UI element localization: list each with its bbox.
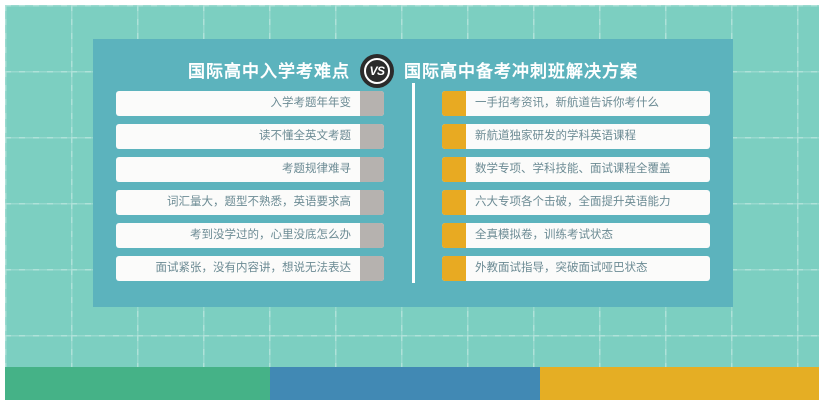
right-column-title: 国际高中备考冲刺班解决方案 <box>404 63 638 80</box>
list-item: 外教面试指导，突破面试哑巴状态 <box>442 256 710 281</box>
orange-marker-block <box>442 256 466 281</box>
list-item: 全真模拟卷，训练考试状态 <box>442 223 710 248</box>
list-item: 考题规律难寻 <box>116 157 384 182</box>
list-item: 新航道独家研发的学科英语课程 <box>442 124 710 149</box>
list-item-label: 一手招考资讯，新航道告诉你考什么 <box>475 98 659 110</box>
list-item: 数学专项、学科技能、面试课程全覆盖 <box>442 157 710 182</box>
list-item-label: 六大专项各个击破，全面提升英语能力 <box>475 197 671 209</box>
list-item: 入学考题年年变 <box>116 91 384 116</box>
orange-marker-block <box>442 223 466 248</box>
list-item: 六大专项各个击破，全面提升英语能力 <box>442 190 710 215</box>
vs-badge-label: VS <box>369 65 384 77</box>
orange-marker-block <box>442 124 466 149</box>
list-item-label: 数学专项、学科技能、面试课程全覆盖 <box>475 164 671 176</box>
bottom-bar-orange <box>540 367 819 400</box>
list-item-label: 考题规律难寻 <box>282 164 351 176</box>
list-item: 读不懂全英文考题 <box>116 124 384 149</box>
gray-marker-block <box>360 256 384 281</box>
left-column: 入学考题年年变 读不懂全英文考题 考题规律难寻 词汇量大，题型不熟悉，英语要求高… <box>93 91 413 291</box>
orange-marker-block <box>442 190 466 215</box>
bottom-bar-blue <box>270 367 540 400</box>
orange-marker-block <box>442 91 466 116</box>
gray-marker-block <box>360 157 384 182</box>
vs-badge-ring: VS <box>364 58 390 84</box>
list-item-label: 新航道独家研发的学科英语课程 <box>475 131 636 143</box>
list-item-label: 入学考题年年变 <box>271 98 352 110</box>
center-divider <box>412 83 415 283</box>
orange-marker-block <box>442 157 466 182</box>
list-item-label: 面试紧张，没有内容讲，想说无法表达 <box>156 263 352 275</box>
list-item-label: 考到没学过的，心里没底怎么办 <box>190 230 351 242</box>
list-item-label: 读不懂全英文考题 <box>259 131 351 143</box>
list-item-label: 词汇量大，题型不熟悉，英语要求高 <box>167 197 351 209</box>
right-column: 一手招考资讯，新航道告诉你考什么 新航道独家研发的学科英语课程 数学专项、学科技… <box>413 91 733 291</box>
gray-marker-block <box>360 223 384 248</box>
gray-marker-block <box>360 190 384 215</box>
comparison-panel: 国际高中入学考难点 VS 国际高中备考冲刺班解决方案 入学考题年年变 读不懂全英… <box>93 39 733 307</box>
poster-canvas: 国际高中入学考难点 VS 国际高中备考冲刺班解决方案 入学考题年年变 读不懂全英… <box>0 0 824 405</box>
list-item: 一手招考资讯，新航道告诉你考什么 <box>442 91 710 116</box>
list-item-label: 全真模拟卷，训练考试状态 <box>475 230 613 242</box>
bottom-bar-green <box>5 367 270 400</box>
list-item: 词汇量大，题型不熟悉，英语要求高 <box>116 190 384 215</box>
bottom-color-bars <box>5 367 819 400</box>
gray-marker-block <box>360 91 384 116</box>
list-item: 面试紧张，没有内容讲，想说无法表达 <box>116 256 384 281</box>
vs-badge-icon: VS <box>360 54 394 88</box>
list-item-label: 外教面试指导，突破面试哑巴状态 <box>475 263 648 275</box>
left-column-title: 国际高中入学考难点 <box>188 63 350 80</box>
gray-marker-block <box>360 124 384 149</box>
list-item: 考到没学过的，心里没底怎么办 <box>116 223 384 248</box>
